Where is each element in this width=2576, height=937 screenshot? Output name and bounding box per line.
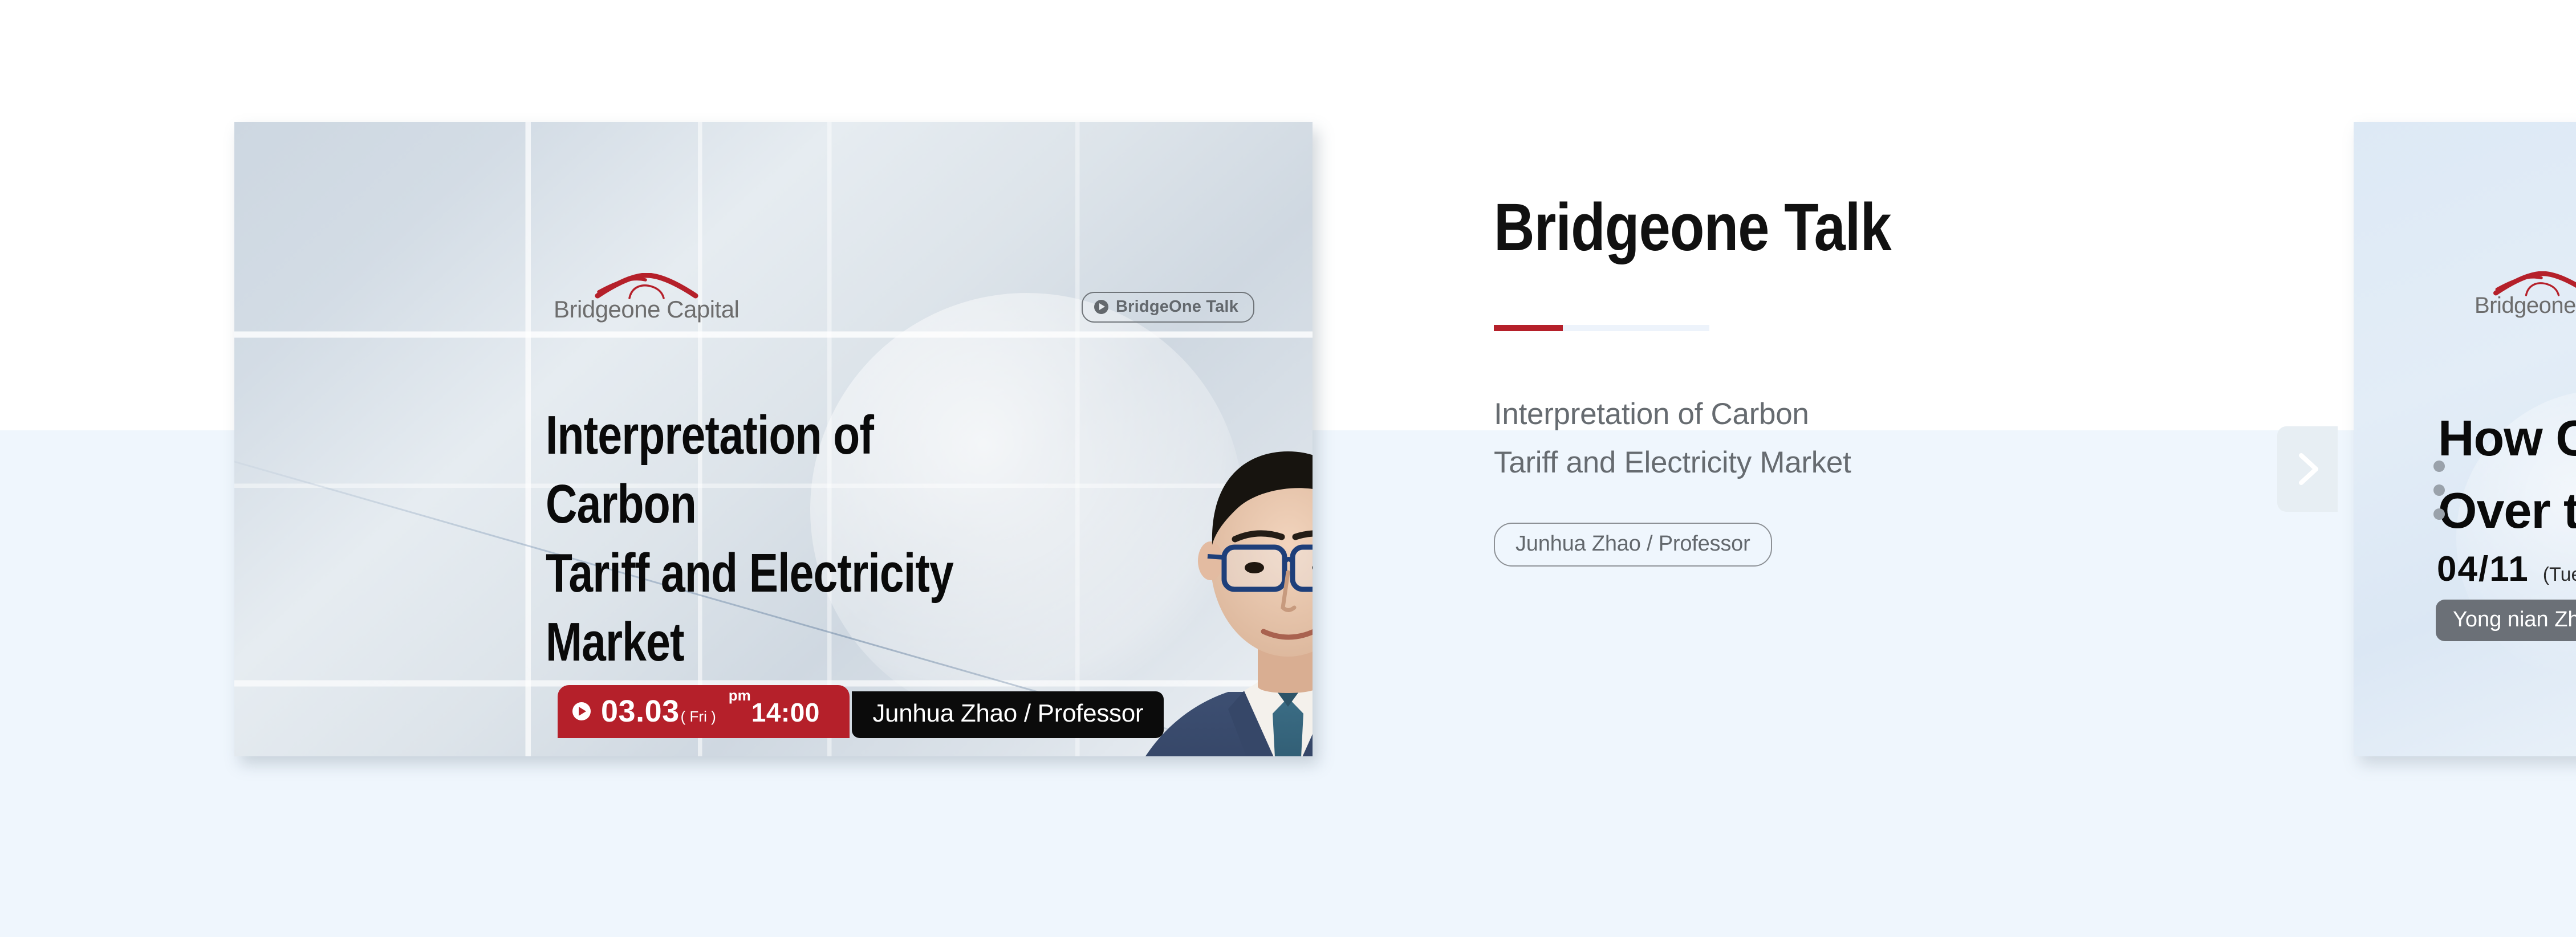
page-title: Bridgeone Talk bbox=[1494, 194, 2069, 261]
play-circle-icon bbox=[1094, 300, 1108, 314]
next-talk-card-preview[interactable]: Bridgeone Ca How Cl Over th bbox=[2354, 122, 2576, 756]
talk-subtitle: Interpretation of Carbon Tariff and Elec… bbox=[1494, 390, 2178, 487]
page-root: Bridgeone Capital BridgeOne Talk Interpr… bbox=[0, 0, 2576, 937]
speaker-tag[interactable]: Junhua Zhao / Professor bbox=[1494, 523, 1772, 567]
card-title-line-1: Interpretation of Carbon bbox=[546, 401, 984, 539]
talk-subtitle-line-1: Interpretation of Carbon bbox=[1494, 390, 2178, 439]
bridgeone-talk-badge[interactable]: BridgeOne Talk bbox=[1082, 292, 1254, 323]
card-date-badge: 03.03 ( Fri ) pm 14:00 bbox=[558, 685, 850, 738]
carousel-progress-fill bbox=[1494, 325, 1563, 331]
carousel-progress-bar[interactable] bbox=[1494, 325, 1709, 331]
talk-subtitle-line-2: Tariff and Electricity Market bbox=[1494, 439, 2178, 487]
peek-card-speaker-name: Yong nian Zhe bbox=[2453, 608, 2576, 632]
peek-card-date-value: 04/11 bbox=[2437, 549, 2529, 589]
peek-card-title-line-2: Over th bbox=[2438, 475, 2576, 547]
peek-card-speaker-bar: Yong nian Zhe bbox=[2436, 600, 2576, 641]
peek-card-title-line-1: How Cl bbox=[2438, 402, 2576, 475]
card-date-weekday: ( Fri ) bbox=[681, 708, 716, 726]
card-title-line-3: Market bbox=[546, 608, 984, 677]
talk-info-panel: Bridgeone Talk Interpretation of Carbon … bbox=[1494, 194, 2178, 567]
card-title-line-2: Tariff and Electricity bbox=[546, 539, 984, 608]
peek-card-title: How Cl Over th bbox=[2438, 402, 2576, 547]
vertical-dots-icon[interactable] bbox=[2433, 461, 2445, 532]
speaker-portrait-image bbox=[1086, 390, 1313, 756]
speaker-portrait bbox=[1086, 390, 1313, 756]
chevron-right-icon bbox=[2294, 451, 2321, 487]
peek-card-date: 04/11 (Tue bbox=[2437, 549, 2576, 589]
card-date-speaker-block: 03.03 ( Fri ) pm 14:00 Junhua Zhao / Pro… bbox=[558, 685, 1164, 738]
brand-logo-text: Bridgeone Capital bbox=[554, 296, 739, 323]
dot bbox=[2433, 508, 2445, 520]
card-date-day: 03.03 bbox=[601, 694, 680, 729]
card-title: Interpretation of Carbon Tariff and Elec… bbox=[546, 401, 984, 677]
peek-brand-logo: Bridgeone Ca bbox=[2475, 271, 2576, 319]
brand-logo: Bridgeone Capital bbox=[554, 273, 739, 323]
speaker-tag-label: Junhua Zhao / Professor bbox=[1515, 532, 1750, 556]
featured-talk-card[interactable]: Bridgeone Capital BridgeOne Talk Interpr… bbox=[234, 122, 1313, 756]
dot bbox=[2433, 461, 2445, 472]
peek-brand-logo-text: Bridgeone Ca bbox=[2475, 293, 2576, 319]
carousel-next-button[interactable] bbox=[2277, 426, 2338, 512]
card-date-time: 14:00 bbox=[751, 697, 820, 728]
card-date-meridiem: pm bbox=[729, 687, 751, 704]
play-circle-icon bbox=[572, 702, 591, 720]
dot bbox=[2433, 484, 2445, 496]
peek-card-weekday: (Tue bbox=[2543, 564, 2576, 586]
talk-badge-label: BridgeOne Talk bbox=[1116, 298, 1238, 316]
